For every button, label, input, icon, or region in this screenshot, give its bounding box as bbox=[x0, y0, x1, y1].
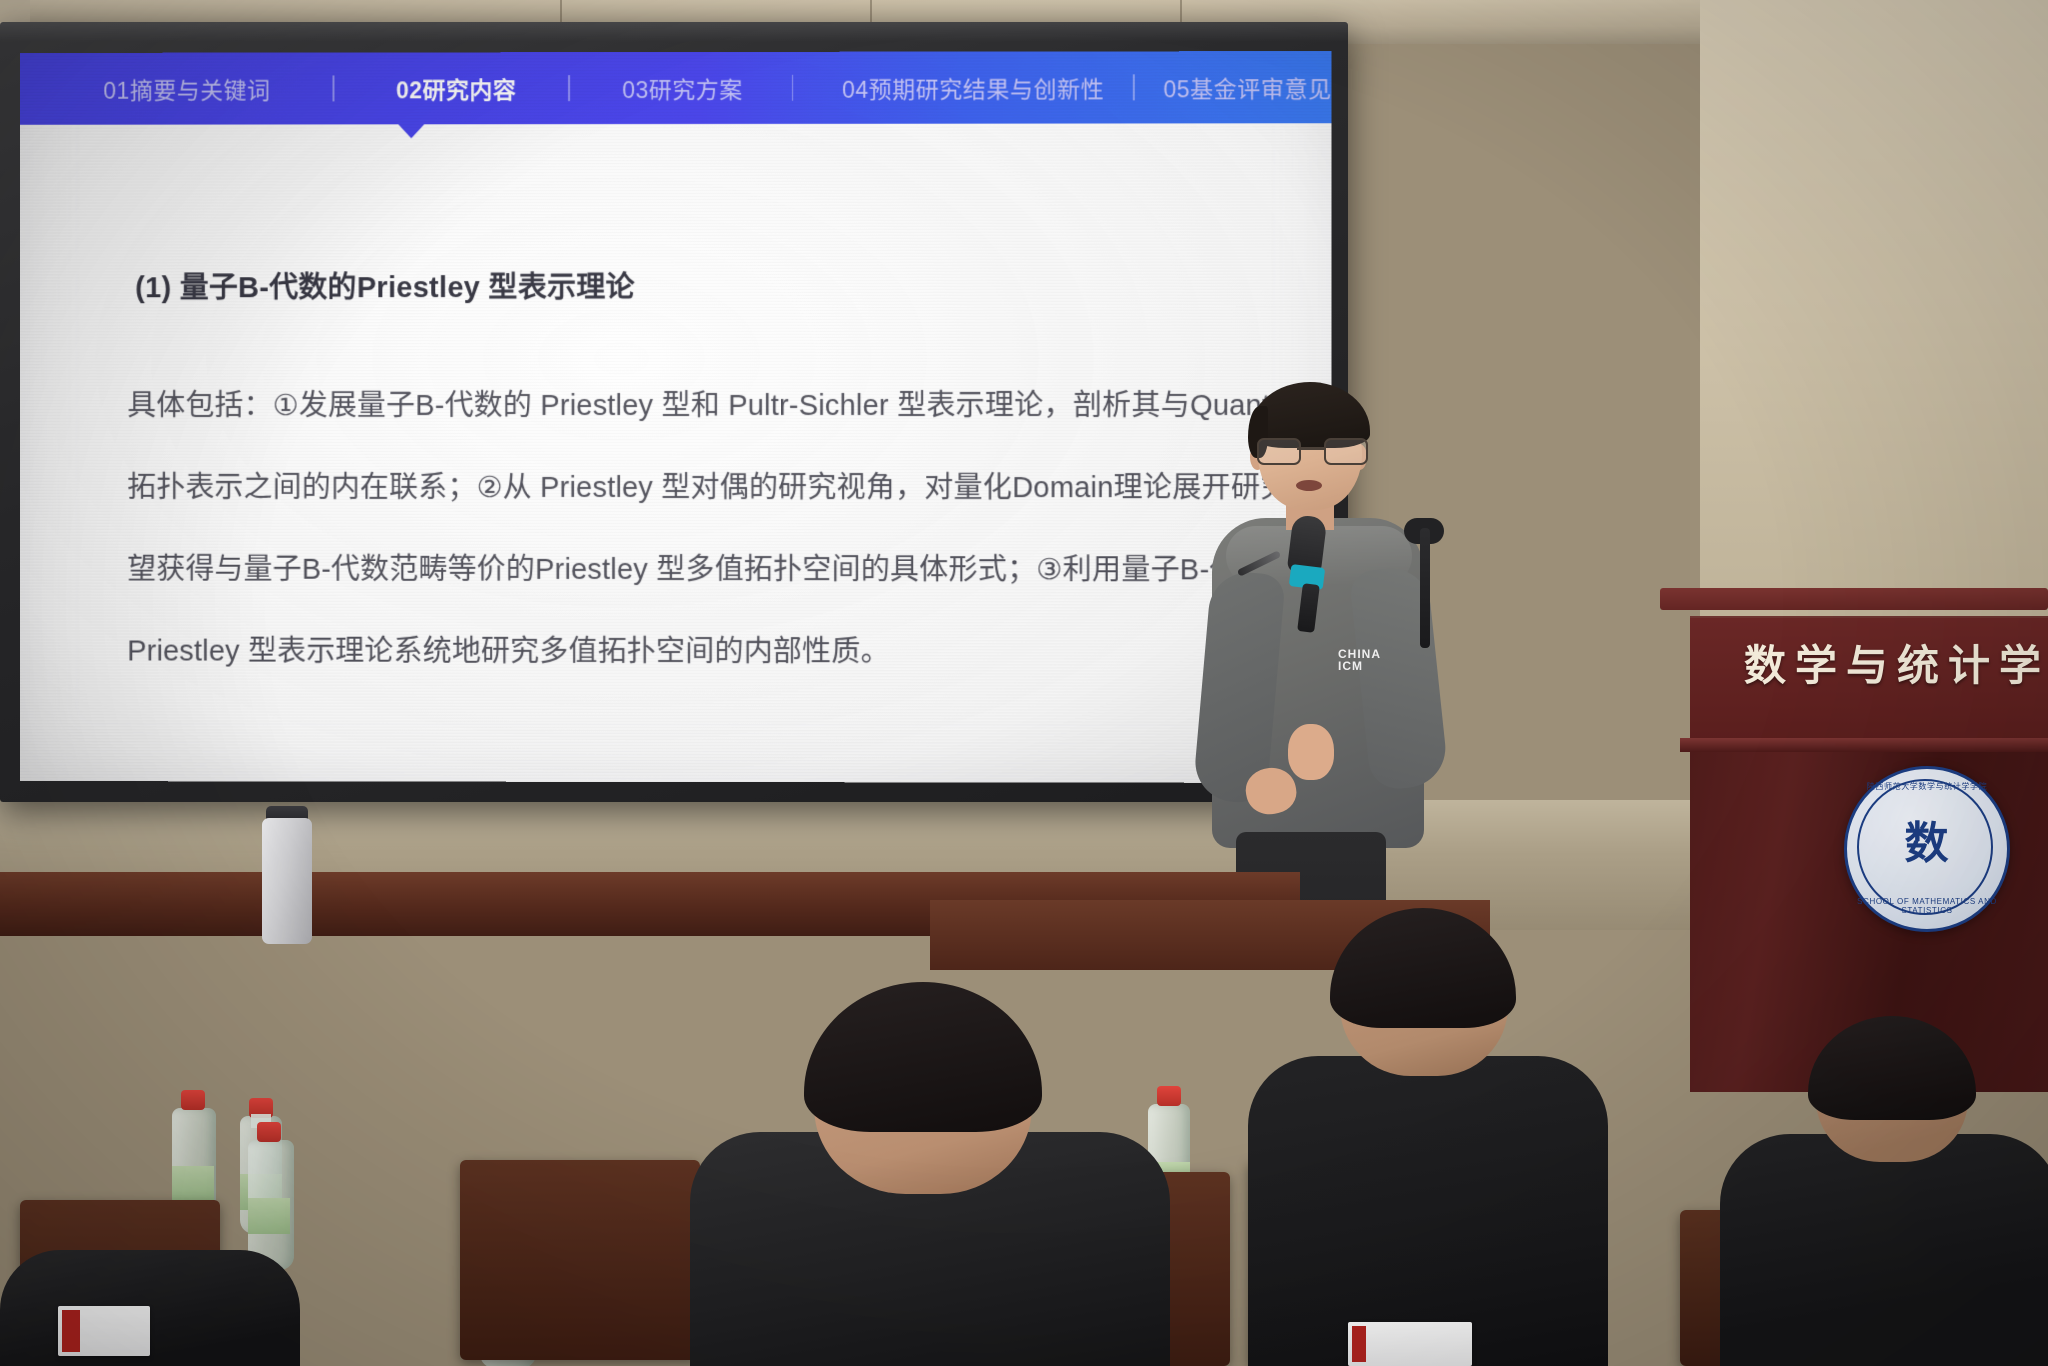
audience-member bbox=[690, 982, 1170, 1366]
audience-body bbox=[0, 1250, 300, 1366]
display-bezel-sheen bbox=[0, 22, 1348, 42]
slide-title: (1) 量子B-代数的Priestley 型表示理论 bbox=[135, 264, 635, 306]
slide-body-line-2: 拓扑表示之间的内在联系；②从 Priestley 型对偶的研究视角，对量化Dom… bbox=[127, 464, 1331, 506]
audience-member bbox=[0, 1250, 300, 1366]
emblem-center-mark: 数 bbox=[1887, 813, 1963, 875]
conference-room-photo: 01摘要与关键词 02研究内容 03研究方案 04预期研究结果与创新性 05基金… bbox=[0, 0, 2048, 1366]
nav-item-02[interactable]: 02研究内容 bbox=[396, 71, 516, 105]
glasses-bridge bbox=[1297, 447, 1325, 450]
slide-body-line-3: 望获得与量子B-代数范畴等价的Priestley 型多值拓扑空间的具体形式；③利… bbox=[127, 546, 1297, 589]
bottle-label bbox=[248, 1198, 290, 1234]
nav-item-05[interactable]: 05基金评审意见 bbox=[1163, 70, 1331, 104]
podium-microphone-stand bbox=[1420, 528, 1430, 648]
podium-lip bbox=[1680, 738, 2048, 752]
emblem-bottom-text: SCHOOL OF MATHEMATICS AND STATISTICS bbox=[1847, 897, 2007, 915]
podium-sign-text: 数学与统计学 bbox=[1744, 632, 2048, 693]
speaker-mouth bbox=[1296, 480, 1322, 491]
nav-separator bbox=[1133, 74, 1135, 100]
name-card bbox=[1348, 1322, 1472, 1366]
bottle-cap bbox=[181, 1090, 205, 1110]
audience-member bbox=[1720, 1016, 2048, 1366]
podium-desktop bbox=[1660, 588, 2048, 610]
audience-hair bbox=[1808, 1016, 1976, 1120]
nav-item-03[interactable]: 03研究方案 bbox=[622, 71, 743, 105]
university-emblem-icon: 陕西师范大学数学与统计学学院 数 SCHOOL OF MATHEMATICS A… bbox=[1844, 766, 2010, 932]
emblem-top-text: 陕西师范大学数学与统计学学院 bbox=[1847, 781, 2007, 792]
sweatshirt-logo: CHINA ICM bbox=[1338, 648, 1384, 674]
audience-body bbox=[1248, 1056, 1608, 1366]
active-nav-pointer-icon bbox=[398, 124, 424, 138]
nav-separator bbox=[568, 75, 570, 101]
bottle-label bbox=[172, 1166, 214, 1202]
chair bbox=[460, 1160, 700, 1360]
audience-hair bbox=[804, 982, 1042, 1132]
glasses-icon bbox=[1256, 438, 1366, 462]
bottle-cap bbox=[257, 1122, 281, 1142]
glasses-lens-left bbox=[1257, 438, 1301, 465]
thermos-bottle bbox=[262, 818, 312, 944]
nav-separator bbox=[332, 75, 334, 101]
slide-nav-items: 01摘要与关键词 02研究内容 03研究方案 04预期研究结果与创新性 05基金… bbox=[20, 51, 1332, 125]
speaker-presenter: CHINA ICM bbox=[1200, 380, 1460, 940]
nav-item-04[interactable]: 04预期研究结果与创新性 bbox=[842, 70, 1104, 104]
nav-item-01[interactable]: 01摘要与关键词 bbox=[103, 72, 270, 106]
audience-hair bbox=[1330, 908, 1516, 1028]
presentation-slide: 01摘要与关键词 02研究内容 03研究方案 04预期研究结果与创新性 05基金… bbox=[20, 51, 1332, 783]
slide-body-line-4: Priestley 型表示理论系统地研究多值拓扑空间的内部性质。 bbox=[127, 628, 890, 671]
nav-separator bbox=[792, 75, 794, 101]
audience-body bbox=[1720, 1134, 2048, 1366]
slide-body-line-1: 具体包括：①发展量子B-代数的 Priestley 型和 Pultr-Sichl… bbox=[127, 382, 1331, 424]
name-card-accent bbox=[62, 1310, 80, 1352]
slide-nav-bar: 01摘要与关键词 02研究内容 03研究方案 04预期研究结果与创新性 05基金… bbox=[20, 51, 1332, 125]
speaker-right-hand bbox=[1288, 724, 1334, 780]
glasses-lens-right bbox=[1324, 438, 1368, 465]
sweatshirt-logo-line2: ICM bbox=[1338, 659, 1363, 673]
audience-member bbox=[1248, 908, 1608, 1366]
name-card-accent bbox=[1352, 1326, 1366, 1362]
